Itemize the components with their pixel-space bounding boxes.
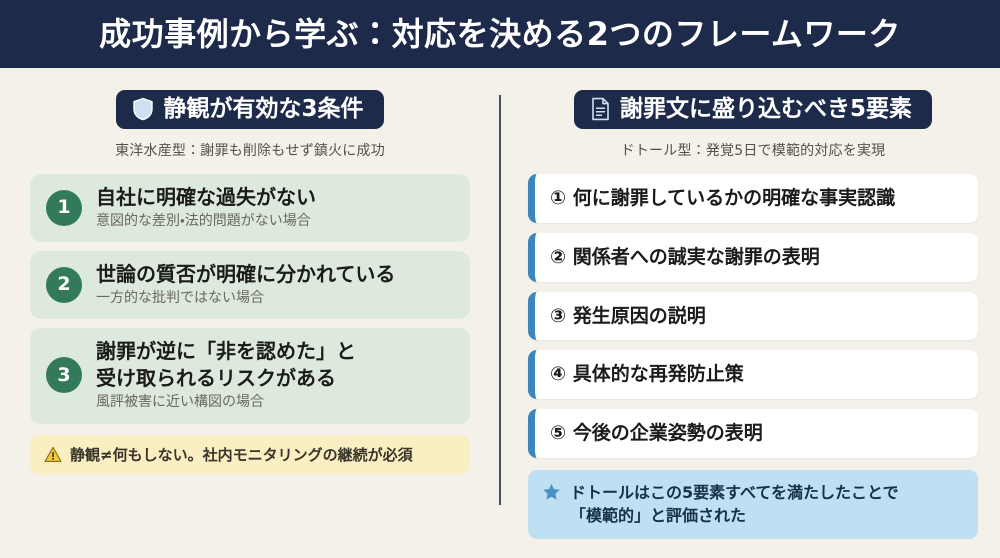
elements-list: ① 何に謝罪しているかの明確な事実認識 ② 関係者への誠実な謝罪の表明 ③ 発生…: [528, 174, 978, 458]
shield-icon: [132, 97, 154, 121]
condition-card[interactable]: 2 世論の質否が明確に分かれている 一方的な批判ではない場合: [30, 251, 470, 319]
warning-box: 静観≠何もしない。社内モニタリングの継続が必須: [30, 435, 470, 474]
condition-title: 世論の質否が明確に分かれている: [96, 262, 395, 287]
condition-desc: 風評被害に近い構図の場合: [96, 393, 356, 411]
condition-number: 3: [46, 357, 82, 393]
document-icon: [590, 97, 611, 121]
columns-container: 静観が有効な3条件 東洋水産型：謝罪も削除もせず鎮火に成功 1 自社に明確な過失…: [0, 68, 1000, 558]
condition-number: 1: [46, 190, 82, 226]
condition-desc: 意図的な差別・法的問題がない場合: [96, 212, 316, 230]
warning-text: 静観≠何もしない。社内モニタリングの継続が必須: [70, 444, 413, 465]
slide-header: 成功事例から学ぶ：対応を決める2つのフレームワーク: [0, 0, 1000, 68]
condition-card[interactable]: 1 自社に明確な過失がない 意図的な差別・法的問題がない場合: [30, 174, 470, 242]
condition-body: 謝罪が逆に「非を認めた」と 受け取られるリスクがある 風評被害に近い構図の場合: [96, 339, 356, 411]
left-column: 静観が有効な3条件 東洋水産型：謝罪も削除もせず鎮火に成功 1 自社に明確な過失…: [0, 68, 500, 558]
note-line-2: 「模範的」と評価された: [570, 504, 899, 527]
right-heading-pill: 謝罪文に盛り込むべき5要素: [574, 90, 932, 129]
condition-title-line2: 受け取られるリスクがある: [96, 366, 356, 391]
star-icon: [542, 483, 561, 505]
conditions-list: 1 自社に明確な過失がない 意図的な差別・法的問題がない場合 2 世論の質否が明…: [30, 174, 470, 424]
left-heading-wrap: 静観が有効な3条件: [30, 90, 470, 129]
element-card[interactable]: ⑤ 今後の企業姿勢の表明: [528, 409, 978, 458]
condition-card[interactable]: 3 謝罪が逆に「非を認めた」と 受け取られるリスクがある 風評被害に近い構図の場…: [30, 328, 470, 423]
note-text: ドトールはこの5要素すべてを満たしたことで 「模範的」と評価された: [570, 481, 899, 527]
slide-root: 成功事例から学ぶ：対応を決める2つのフレームワーク 静観が有効な3条件 東洋水産…: [0, 0, 1000, 558]
element-card[interactable]: ③ 発生原因の説明: [528, 292, 978, 341]
right-subtitle: ドトール型：発覚5日で模範的対応を実現: [528, 140, 978, 160]
element-card[interactable]: ④ 具体的な再発防止策: [528, 350, 978, 399]
element-card[interactable]: ① 何に謝罪しているかの明確な事実認識: [528, 174, 978, 223]
condition-title-line1: 謝罪が逆に「非を認めた」と: [96, 339, 356, 364]
condition-body: 自社に明確な過失がない 意図的な差別・法的問題がない場合: [96, 185, 316, 230]
condition-body: 世論の質否が明確に分かれている 一方的な批判ではない場合: [96, 262, 395, 307]
right-heading-wrap: 謝罪文に盛り込むべき5要素: [528, 90, 978, 129]
condition-number: 2: [46, 267, 82, 303]
left-heading-label: 静観が有効な3条件: [163, 98, 363, 121]
element-card[interactable]: ② 関係者への誠実な謝罪の表明: [528, 233, 978, 282]
condition-desc: 一方的な批判ではない場合: [96, 289, 395, 307]
condition-title: 自社に明確な過失がない: [96, 185, 316, 210]
right-column: 謝罪文に盛り込むべき5要素 ドトール型：発覚5日で模範的対応を実現 ① 何に謝罪…: [500, 68, 1000, 558]
page-title: 成功事例から学ぶ：対応を決める2つのフレームワーク: [99, 18, 901, 50]
left-subtitle: 東洋水産型：謝罪も削除もせず鎮火に成功: [30, 140, 470, 160]
right-heading-label: 謝罪文に盛り込むべき5要素: [620, 98, 912, 121]
note-line-1: ドトールはこの5要素すべてを満たしたことで: [570, 481, 899, 504]
note-box: ドトールはこの5要素すべてを満たしたことで 「模範的」と評価された: [528, 470, 978, 539]
left-heading-pill: 静観が有効な3条件: [116, 90, 383, 129]
warning-triangle-icon: [44, 446, 62, 463]
